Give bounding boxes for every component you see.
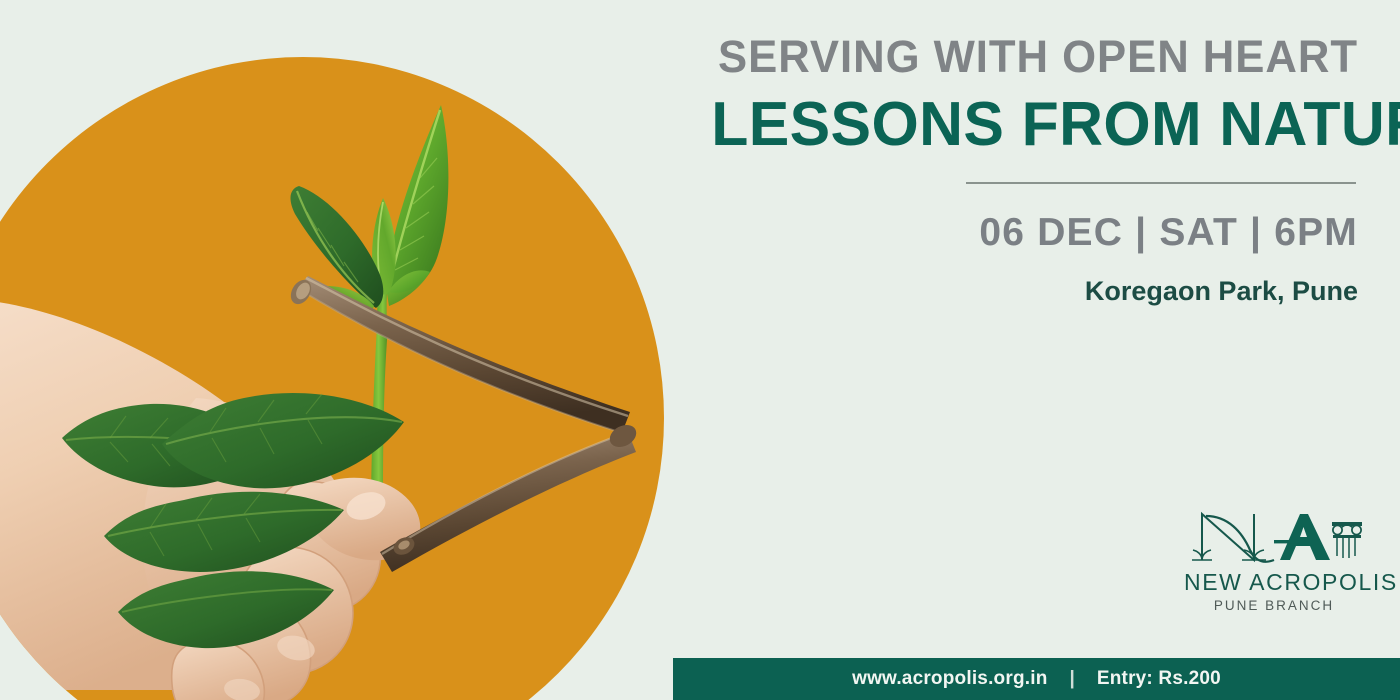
brand-logo: NEW ACROPOLIS PUNE BRANCH (1184, 498, 1364, 613)
ionic-column-icon (1332, 522, 1362, 558)
eyebrow-text: SERVING WITH OPEN HEART (718, 34, 1358, 79)
artwork-panel (0, 0, 700, 700)
event-venue: Koregaon Park, Pune (698, 278, 1358, 305)
website-link[interactable]: www.acropolis.org.in (852, 668, 1047, 690)
event-poster: SERVING WITH OPEN HEART LESSONS FROM NAT… (0, 0, 1400, 700)
new-acropolis-monogram-icon (1184, 498, 1364, 570)
twig-lower-branch (380, 421, 640, 572)
divider (966, 182, 1356, 184)
event-datetime: 06 DEC | SAT | 6PM (698, 213, 1358, 252)
logo-subtitle: PUNE BRANCH (1184, 599, 1364, 613)
footer-separator: | (1048, 668, 1097, 690)
entry-fee: Entry: Rs.200 (1097, 668, 1221, 690)
logo-name: NEW ACROPOLIS (1184, 571, 1364, 594)
hand-sapling-illustration (0, 0, 700, 700)
footer-bar: www.acropolis.org.in | Entry: Rs.200 (673, 658, 1400, 700)
page-title: LESSONS FROM NATURE (711, 94, 1358, 156)
